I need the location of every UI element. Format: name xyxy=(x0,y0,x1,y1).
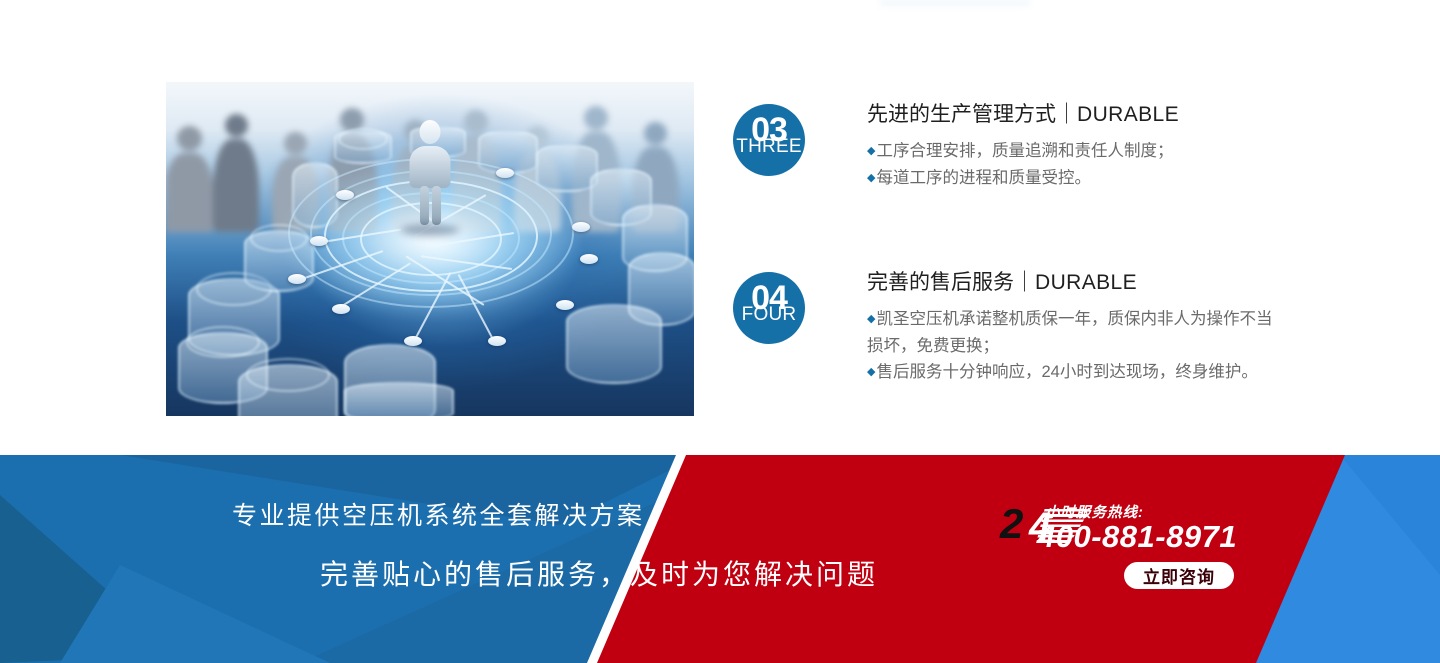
banner-slogan-line-2: 完善贴心的售后服务，及时为您解决问题 xyxy=(320,561,878,589)
hotline-group: 2 4 小时服务热线: 400-881-8971 立即咨询 xyxy=(998,455,1318,663)
network-node xyxy=(288,274,306,284)
feature-bullet-text: 售后服务十分钟响应，24小时到达现场，终身维护。 xyxy=(876,363,1257,381)
feature-description: ◆凯圣空压机承诺整机质保一年，质保内非人为操作不当损坏，免费更换； ◆售后服务十… xyxy=(867,306,1277,386)
feature-bullet-line: ◆售后服务十分钟响应，24小时到达现场，终身维护。 xyxy=(867,359,1277,386)
feature-title-separator: ｜ xyxy=(1014,271,1035,294)
feature-title-en: DURABLE xyxy=(1077,103,1179,126)
feature-block-04: 04 FOUR 完善的售后服务｜DURABLE ◆凯圣空压机承诺整机质保一年，质… xyxy=(733,272,1277,386)
badge-number-word: THREE xyxy=(733,137,805,156)
network-node xyxy=(580,254,598,264)
feature-title-en: DURABLE xyxy=(1035,271,1137,294)
feature-description: ◆工序合理安排，质量追溯和责任人制度； ◆每道工序的进程和质量受控。 xyxy=(867,138,1179,191)
network-connection-illustration xyxy=(166,82,694,416)
feature-bullet-line: ◆每道工序的进程和质量受控。 xyxy=(867,165,1179,192)
network-node xyxy=(332,304,350,314)
top-edge-artifact xyxy=(880,0,1030,8)
network-node xyxy=(336,190,354,200)
feature-title-cn: 先进的生产管理方式 xyxy=(867,103,1056,126)
badge-number-word: FOUR xyxy=(733,305,805,324)
network-node xyxy=(556,300,574,310)
central-person-figure xyxy=(409,120,451,225)
feature-title: 完善的售后服务｜DURABLE xyxy=(867,272,1277,293)
feature-title-separator: ｜ xyxy=(1056,103,1077,126)
network-node xyxy=(404,336,422,346)
feature-bullet-line: ◆凯圣空压机承诺整机质保一年，质保内非人为操作不当损坏，免费更换； xyxy=(867,306,1277,359)
bullet-diamond-icon: ◆ xyxy=(867,366,875,378)
badge-number-03: 03 THREE xyxy=(733,104,805,176)
bullet-diamond-icon: ◆ xyxy=(867,172,875,184)
feature-bullet-text: 凯圣空压机承诺整机质保一年，质保内非人为操作不当损坏，免费更换； xyxy=(867,310,1272,355)
network-node xyxy=(496,168,514,178)
network-node xyxy=(488,336,506,346)
page-root: 03 THREE 先进的生产管理方式｜DURABLE ◆工序合理安排，质量追溯和… xyxy=(0,0,1440,663)
banner-slogan-line-1: 专业提供空压机系统全套解决方案 xyxy=(232,504,645,529)
feature-title: 先进的生产管理方式｜DURABLE xyxy=(867,104,1179,125)
bullet-diamond-icon: ◆ xyxy=(867,145,875,157)
network-node xyxy=(310,236,328,246)
network-node xyxy=(572,222,590,232)
feature-block-03: 03 THREE 先进的生产管理方式｜DURABLE ◆工序合理安排，质量追溯和… xyxy=(733,104,1179,191)
hotline-number: 400-881-8971 xyxy=(1038,519,1237,555)
bullet-diamond-icon: ◆ xyxy=(867,313,875,325)
consult-now-button[interactable]: 立即咨询 xyxy=(1124,562,1234,589)
bottom-cta-banner: 专业提供空压机系统全套解决方案 完善贴心的售后服务，及时为您解决问题 2 4 小… xyxy=(0,455,1440,663)
badge-number-04: 04 FOUR xyxy=(733,272,805,344)
logo-digit-2: 2 xyxy=(1000,503,1023,545)
feature-bullet-line: ◆工序合理安排，质量追溯和责任人制度； xyxy=(867,138,1179,165)
feature-bullet-text: 工序合理安排，质量追溯和责任人制度； xyxy=(876,142,1173,160)
feature-title-cn: 完善的售后服务 xyxy=(867,271,1014,294)
feature-bullet-text: 每道工序的进程和质量受控。 xyxy=(876,169,1091,187)
banner-slogan-group: 专业提供空压机系统全套解决方案 完善贴心的售后服务，及时为您解决问题 xyxy=(0,455,760,663)
